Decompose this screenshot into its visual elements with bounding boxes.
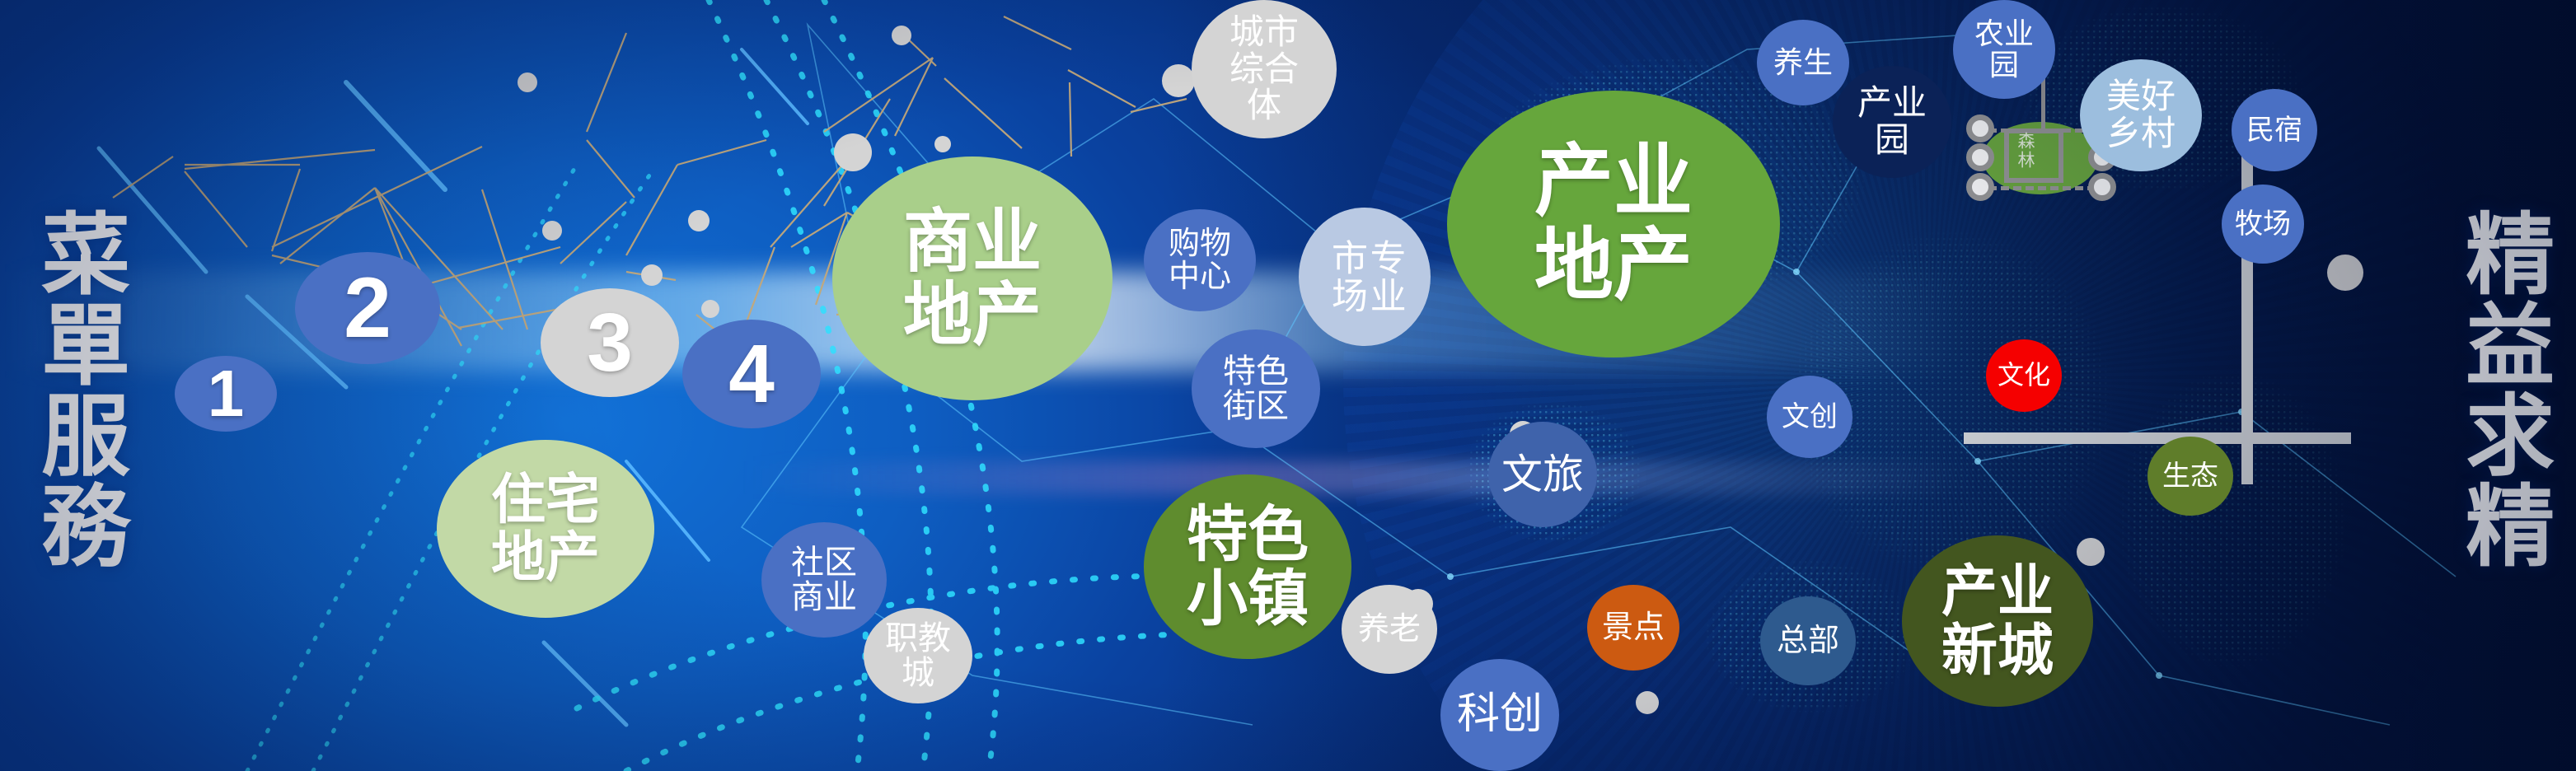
node-label: 职教 城 (885, 621, 951, 691)
left-calligraphy: 菜單服務 (33, 26, 124, 751)
node-label: 购物 中心 (1169, 227, 1231, 294)
node-bubble-n19[interactable]: 文创 (1767, 376, 1852, 458)
node-bubble-n29[interactable]: 生态 (2147, 437, 2233, 516)
crosshair-horizontal-bar (1964, 432, 2351, 444)
node-label: 特色 小镇 (1187, 502, 1309, 632)
node-bubble-n23[interactable]: 养生 (1757, 20, 1849, 105)
forest-corner-node-bl (1966, 173, 1994, 201)
node-bubble-n6[interactable]: 住宅 地产 (437, 440, 654, 618)
right-calligraphy: 精益求精 (2457, 26, 2548, 751)
node-label: 养生 (1773, 47, 1833, 78)
node-bubble-n22[interactable]: 产业 园 (1833, 66, 1951, 178)
node-bubble-n20[interactable]: 总部 (1760, 596, 1856, 685)
node-bubble-n13[interactable]: 特色 小镇 (1144, 474, 1351, 659)
infographic-canvas: 菜單服務 精益求精 森林 1234商业 地产住宅 地产城市 综合 体购物 中心专… (0, 0, 2576, 771)
node-bubble-n9[interactable]: 专业 市场 (1299, 208, 1431, 346)
node-label: 城市 综合 体 (1229, 14, 1299, 124)
node-label: 民宿 (2246, 115, 2302, 145)
node-bubble-n18[interactable]: 景点 (1587, 585, 1679, 671)
node-bubble-n24[interactable]: 农业 园 (1953, 0, 2055, 99)
node-label: 专业 市场 (1326, 239, 1403, 315)
node-label: 社区 商业 (791, 545, 857, 615)
node-bubble-n15[interactable]: 科创 (1440, 659, 1559, 771)
node-bubble-n21[interactable]: 产业 新城 (1902, 535, 2093, 707)
forest-mid-node-left (1966, 143, 1994, 171)
node-bubble-n16[interactable]: 文旅 (1488, 422, 1597, 527)
node-label: 产业 园 (1857, 85, 1927, 158)
node-label: 牧场 (2235, 209, 2291, 239)
node-bubble-n27[interactable]: 牧场 (2222, 185, 2304, 264)
node-label: 生态 (2162, 461, 2218, 491)
node-label: 景点 (1602, 611, 1665, 644)
node-label: 文创 (1782, 402, 1838, 432)
node-bubble-n5[interactable]: 商业 地产 (832, 157, 1112, 400)
node-bubble-n10[interactable]: 特色 街区 (1192, 329, 1320, 448)
node-label: 文旅 (1501, 453, 1584, 497)
forest-label: 森林 (2016, 132, 2034, 170)
node-label: 产业 新城 (1941, 562, 2054, 680)
forest-corner-node-tl (1966, 114, 1994, 143)
node-label: 养老 (1358, 613, 1421, 646)
node-bubble-n2[interactable]: 2 (295, 252, 440, 364)
node-label: 农业 园 (1974, 18, 2034, 81)
node-bubble-n12[interactable]: 职教 城 (864, 608, 972, 703)
node-bubble-n11[interactable]: 社区 商业 (761, 522, 887, 638)
node-label: 4 (728, 330, 775, 418)
node-label: 文化 (1998, 362, 2050, 390)
node-label: 总部 (1777, 624, 1839, 657)
node-label: 产业 地产 (1534, 140, 1693, 308)
node-bubble-n26[interactable]: 民宿 (2232, 89, 2317, 171)
node-label: 2 (344, 263, 391, 353)
node-bubble-n4[interactable]: 4 (682, 320, 821, 428)
forest-corner-node-br (2088, 173, 2116, 201)
node-bubble-n17[interactable]: 产业 地产 (1447, 91, 1780, 357)
node-label: 美好 乡村 (2106, 78, 2176, 152)
node-label: 住宅 地产 (491, 471, 600, 586)
node-label: 科创 (1457, 692, 1543, 737)
node-bubble-n1[interactable]: 1 (175, 356, 277, 432)
node-bubble-n25[interactable]: 美好 乡村 (2080, 59, 2202, 171)
node-bubble-n7[interactable]: 城市 综合 体 (1192, 0, 1337, 138)
node-bubble-n8[interactable]: 购物 中心 (1144, 209, 1256, 311)
node-bubble-n14[interactable]: 养老 (1342, 585, 1437, 674)
node-label: 特色 街区 (1223, 354, 1289, 424)
node-bubble-n28[interactable]: 文化 (1986, 339, 2062, 412)
crosshair-vertical-bar (2241, 122, 2253, 484)
node-label: 1 (208, 359, 245, 429)
node-label: 3 (587, 299, 633, 386)
node-label: 商业 地产 (903, 205, 1042, 352)
node-bubble-n3[interactable]: 3 (541, 288, 679, 397)
